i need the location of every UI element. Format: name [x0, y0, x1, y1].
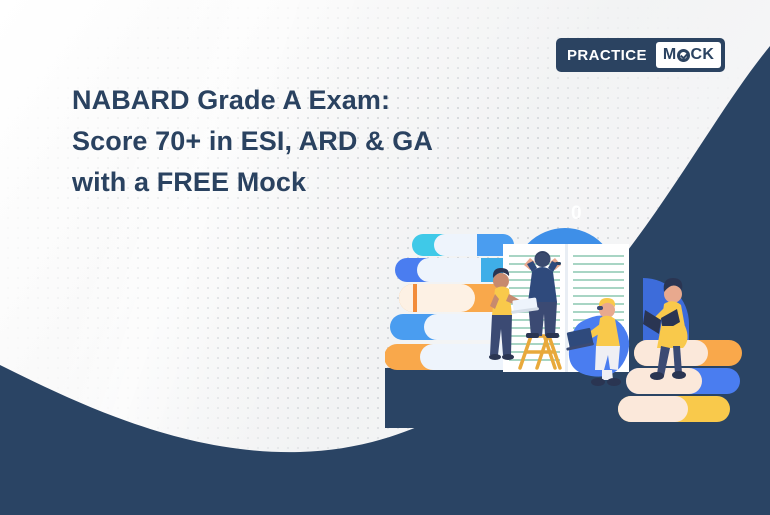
- logo-mock-letter-m: M: [663, 46, 677, 64]
- logo-mock-letters-ck: CK: [691, 46, 715, 64]
- promo-banner: PRACTICE MCK NABARD Grade A Exam: Score …: [0, 0, 770, 515]
- practicemock-logo[interactable]: PRACTICE MCK: [556, 38, 725, 72]
- headline-line-1: NABARD Grade A Exam:: [72, 80, 502, 121]
- logo-word-mock: MCK: [656, 42, 721, 68]
- students-studying-illustration: [385, 218, 745, 428]
- headline-line-2: Score 70+ in ESI, ARD & GA: [72, 121, 502, 162]
- check-circle-icon: [677, 49, 690, 62]
- headline-line-3: with a FREE Mock: [72, 162, 502, 203]
- logo-word-practice: PRACTICE: [560, 42, 656, 68]
- headline: NABARD Grade A Exam: Score 70+ in ESI, A…: [72, 80, 502, 203]
